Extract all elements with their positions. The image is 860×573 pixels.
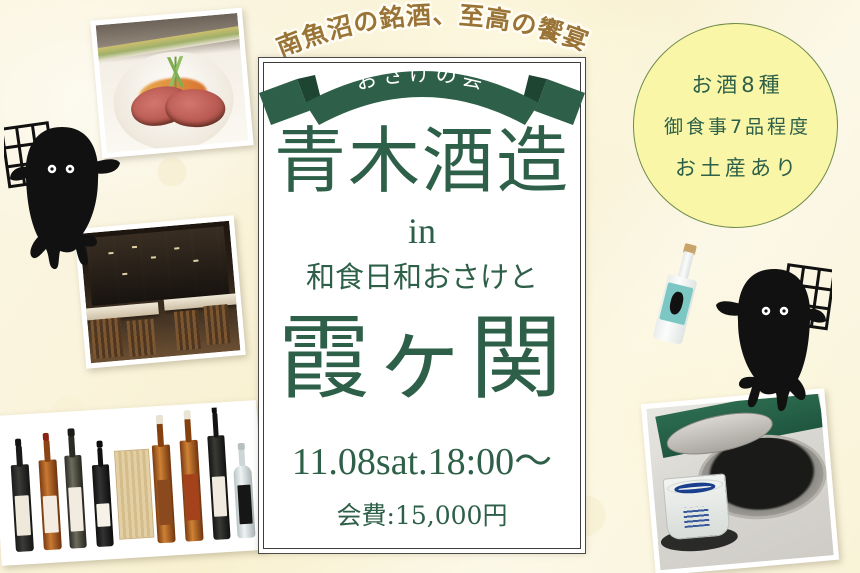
main-card: おさけの会 青木酒造 in 和食日和おさけと 霞ヶ関 11.08sat.18:0… bbox=[258, 57, 586, 554]
poster-canvas: 南魚沼の銘酒、至高の饗宴 南魚沼の銘酒、至高の饗宴 bbox=[0, 0, 860, 573]
soot-sprite-left-icon bbox=[4, 103, 120, 275]
photo-bottle-lineup bbox=[0, 400, 265, 566]
badge-line-food-count: 御食事7品程度 bbox=[660, 112, 811, 139]
soot-sprite-right-icon bbox=[716, 245, 832, 417]
brewery-name: 青木酒造 bbox=[264, 125, 580, 197]
badge-line-souvenir: お土産あり bbox=[671, 152, 800, 182]
event-datetime: 11.08sat.18:00〜 bbox=[264, 443, 580, 481]
small-sake-bottle bbox=[652, 241, 705, 345]
venue-subtitle: 和食日和おさけと bbox=[264, 263, 580, 292]
ribbon-banner: おさけの会 bbox=[257, 53, 587, 131]
info-badge: お酒8種 御食事7品程度 お土産あり bbox=[633, 23, 838, 228]
event-fee: 会費:15,000円 bbox=[264, 503, 580, 528]
venue-name: 霞ヶ関 bbox=[264, 313, 580, 405]
badge-line-sake-count: お酒8種 bbox=[687, 69, 783, 99]
in-connector: in bbox=[264, 213, 580, 249]
